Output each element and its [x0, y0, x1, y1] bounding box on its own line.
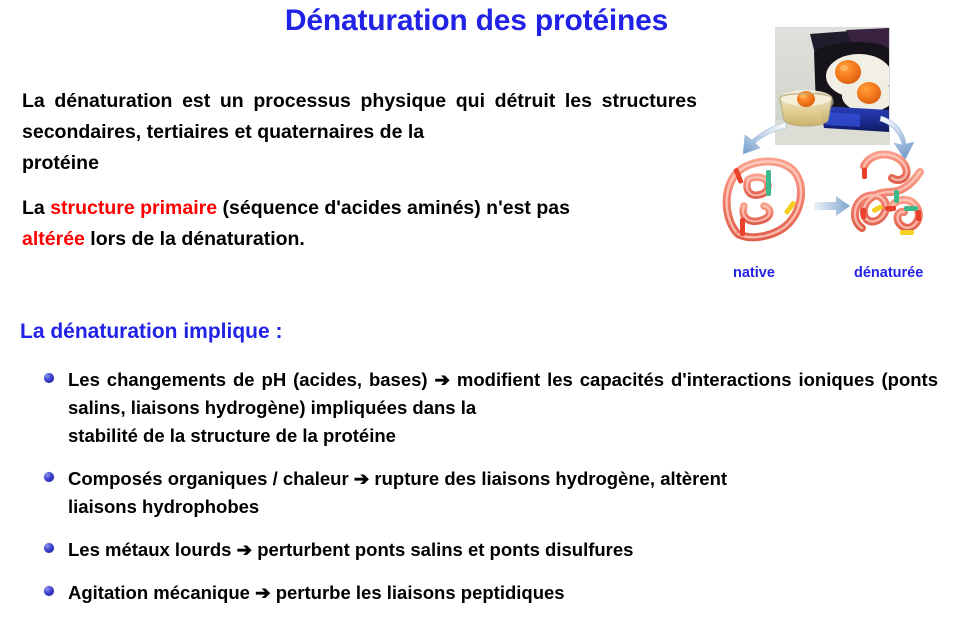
figure-label-native: native [733, 265, 775, 281]
intro-paragraph-1-text: La dénaturation est un processus physiqu… [22, 90, 697, 143]
intro-p2-middle: (séquence d'acides aminés) n'est pas [217, 197, 570, 219]
list-item-text: Les métaux lourds ➔ perturbent ponts sal… [68, 536, 938, 564]
list-item-body: Agitation mécanique ➔ perturbe les liais… [68, 582, 565, 603]
broken-bond-red-2 [862, 168, 867, 179]
bullet-dot-icon [44, 543, 54, 553]
broken-bond-red-3 [861, 208, 866, 219]
list-item-lastline: liaisons hydrophobes [68, 493, 938, 521]
figure-label-denaturee: dénaturée [854, 265, 923, 281]
egg-photo [776, 28, 889, 144]
intro-paragraph-2-lastline: altérée lors de la dénaturation. [22, 224, 697, 255]
denatured-protein-chain [855, 155, 921, 236]
bullet-dot-icon [44, 373, 54, 383]
list-item-text: Les changements de pH (acides, bases) ➔ … [68, 366, 938, 450]
broken-bond-red-4 [916, 210, 921, 221]
section-heading-denaturation-implique: La dénaturation implique : [20, 320, 283, 344]
intro-paragraph-2: La structure primaire (séquence d'acides… [22, 193, 697, 255]
intro-p2-highlight-alteree: altérée [22, 228, 85, 250]
broken-bond-yellow-2 [900, 230, 914, 235]
list-item: Les changements de pH (acides, bases) ➔ … [40, 366, 938, 450]
intro-p2-suffix: lors de la dénaturation. [85, 228, 305, 250]
list-item: Agitation mécanique ➔ perturbe les liais… [40, 579, 938, 607]
broken-bond-green-2 [904, 206, 918, 211]
list-item-text: Agitation mécanique ➔ perturbe les liais… [68, 579, 938, 607]
list-item-body: Composés organiques / chaleur ➔ rupture … [68, 468, 727, 489]
list-item: Les métaux lourds ➔ perturbent ponts sal… [40, 536, 938, 564]
intro-p2-highlight-primary-structure: structure primaire [50, 197, 217, 219]
intro-text-block: La dénaturation est un processus physiqu… [22, 86, 697, 255]
bullet-dot-icon [44, 472, 54, 482]
broken-bond-green-1 [894, 190, 899, 203]
bond-red-bottom [740, 218, 745, 236]
protein-structure-diagram [714, 134, 953, 264]
native-protein-chain [727, 161, 801, 237]
slide-canvas: Dénaturation des protéines La dénaturati… [0, 0, 953, 626]
bond-green [766, 170, 771, 196]
broken-bond-red-1 [885, 206, 896, 211]
list-item-lastline: stabilité de la structure de la protéine [68, 422, 938, 450]
list-item-body: Les changements de pH (acides, bases) ➔ … [68, 369, 938, 418]
list-item: Composés organiques / chaleur ➔ rupture … [40, 465, 938, 521]
denaturation-arrow-icon [814, 196, 850, 216]
intro-p2-prefix: La [22, 197, 50, 219]
intro-paragraph-1: La dénaturation est un processus physiqu… [22, 86, 697, 179]
intro-paragraph-1-lastline: protéine [22, 148, 697, 179]
bullet-dot-icon [44, 586, 54, 596]
list-item-text: Composés organiques / chaleur ➔ rupture … [68, 465, 938, 521]
list-item-body: Les métaux lourds ➔ perturbent ponts sal… [68, 539, 633, 560]
protein-denaturation-figure: native dénaturée [714, 14, 953, 290]
bullet-list: Les changements de pH (acides, bases) ➔ … [40, 366, 938, 607]
